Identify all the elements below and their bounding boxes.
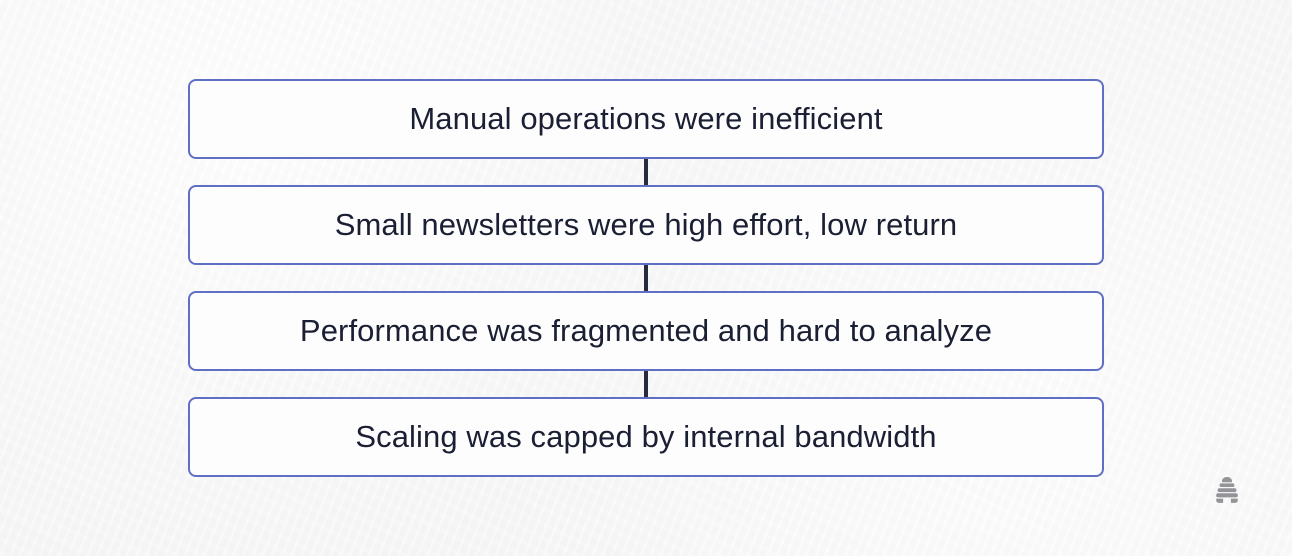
flow-connector-3-4 bbox=[188, 371, 1104, 397]
flow-node-2-label: Small newsletters were high effort, low … bbox=[335, 208, 958, 242]
flow-node-3[interactable]: Performance was fragmented and hard to a… bbox=[188, 291, 1104, 371]
brand-watermark bbox=[1211, 474, 1243, 506]
flow-connector-2-3 bbox=[188, 265, 1104, 291]
flow-node-1-label: Manual operations were inefficient bbox=[409, 102, 882, 136]
slide-canvas: Manual operations were inefficient Small… bbox=[0, 0, 1292, 556]
connector-line-icon bbox=[644, 263, 648, 293]
connector-line-icon bbox=[644, 157, 648, 187]
flow-diagram: Manual operations were inefficient Small… bbox=[188, 79, 1104, 477]
beehive-stack-icon bbox=[1211, 474, 1243, 506]
flow-node-2[interactable]: Small newsletters were high effort, low … bbox=[188, 185, 1104, 265]
flow-node-4[interactable]: Scaling was capped by internal bandwidth bbox=[188, 397, 1104, 477]
flow-node-3-label: Performance was fragmented and hard to a… bbox=[300, 314, 992, 348]
flow-connector-1-2 bbox=[188, 159, 1104, 185]
flow-node-4-label: Scaling was capped by internal bandwidth bbox=[355, 420, 936, 454]
flow-node-1[interactable]: Manual operations were inefficient bbox=[188, 79, 1104, 159]
connector-line-icon bbox=[644, 369, 648, 399]
